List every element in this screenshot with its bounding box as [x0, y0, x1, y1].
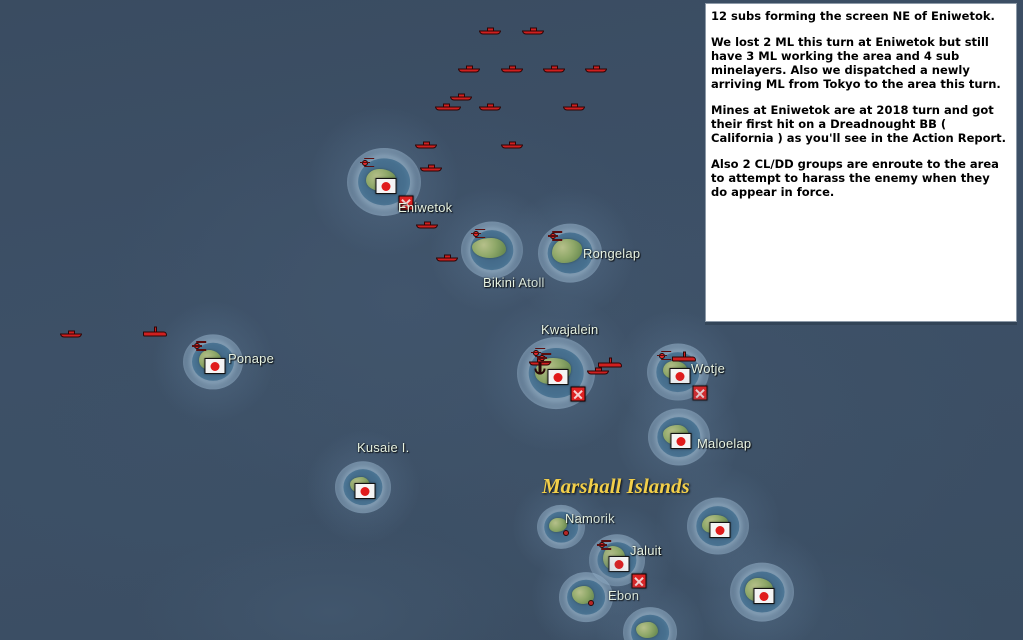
- submarine-sail: [551, 66, 558, 70]
- surface-ship-icon[interactable]: [598, 357, 622, 368]
- ship-mast: [609, 358, 612, 364]
- island-label-wotje: Wotje: [691, 361, 725, 376]
- island-label-jaluit: Jaluit: [630, 543, 662, 558]
- japanese-flag-icon: [716, 526, 725, 535]
- japanese-flag-icon: [554, 373, 563, 382]
- submarine-sail: [487, 28, 494, 32]
- surface-ship-icon[interactable]: [672, 351, 696, 362]
- submarine-icon[interactable]: [450, 92, 472, 101]
- base-marker-arno[interactable]: [754, 588, 775, 604]
- island-label-ebon: Ebon: [608, 588, 639, 603]
- submarine-sail: [466, 66, 473, 70]
- island-label-kusaiei: Kusaie I.: [357, 440, 409, 455]
- base-marker-kusaiei[interactable]: [355, 483, 376, 499]
- submarine-icon[interactable]: [563, 102, 585, 111]
- airfield-marker-ponape[interactable]: [192, 341, 202, 351]
- base-marker-wotje[interactable]: [670, 368, 691, 384]
- island-label-maloelap: Maloelap: [697, 436, 751, 451]
- submarine-sail: [68, 331, 75, 335]
- free-target-marker[interactable]: [537, 353, 547, 363]
- submarine-sail: [443, 104, 450, 108]
- submarine-icon[interactable]: [435, 102, 461, 111]
- base-marker-maloelap[interactable]: [671, 433, 692, 449]
- japanese-flag-icon: [677, 437, 686, 446]
- submarine-icon[interactable]: [416, 220, 438, 229]
- airfield-marker-bikiniatoll[interactable]: [471, 229, 481, 239]
- submarine-icon[interactable]: [60, 329, 82, 338]
- ship-mast: [154, 327, 157, 333]
- island-label-bikiniatoll: Bikini Atoll: [483, 275, 545, 290]
- submarine-sail: [530, 28, 537, 32]
- base-marker-mili[interactable]: [710, 522, 731, 538]
- anchor-icon[interactable]: [535, 362, 546, 375]
- base-marker-kwajalein[interactable]: [548, 369, 569, 385]
- submarine-icon[interactable]: [436, 253, 458, 262]
- surface-ship-icon[interactable]: [143, 326, 167, 337]
- minefield-marker-kwajalein[interactable]: [571, 387, 586, 402]
- turn-report-panel[interactable]: 12 subs forming the screen NE of Eniweto…: [705, 3, 1017, 322]
- japanese-flag-icon: [615, 560, 624, 569]
- report-paragraph: We lost 2 ML this turn at Eniwetok but s…: [711, 35, 1008, 91]
- region-label: Marshall Islands: [542, 474, 690, 499]
- airfield-marker-wotje[interactable]: [657, 351, 667, 361]
- submarine-icon[interactable]: [415, 140, 437, 149]
- island-label-eniwetok: Eniwetok: [398, 200, 452, 215]
- base-marker-ponape[interactable]: [205, 358, 226, 374]
- submarine-sail: [571, 104, 578, 108]
- japanese-flag-icon: [361, 487, 370, 496]
- submarine-sail: [444, 255, 451, 259]
- japanese-flag-icon: [760, 592, 769, 601]
- submarine-icon[interactable]: [501, 64, 523, 73]
- island-label-kwajalein: Kwajalein: [541, 322, 598, 337]
- submarine-sail: [509, 142, 516, 146]
- submarine-icon[interactable]: [479, 26, 501, 35]
- japanese-flag-icon: [676, 372, 685, 381]
- submarine-icon[interactable]: [458, 64, 480, 73]
- base-marker-eniwetok[interactable]: [376, 178, 397, 194]
- submarine-sail: [424, 222, 431, 226]
- submarine-icon[interactable]: [585, 64, 607, 73]
- submarine-icon[interactable]: [522, 26, 544, 35]
- submarine-icon[interactable]: [543, 64, 565, 73]
- japanese-flag-icon: [211, 362, 220, 371]
- airfield-marker-jaluit[interactable]: [597, 540, 607, 550]
- submarine-sail: [509, 66, 516, 70]
- submarine-sail: [423, 142, 430, 146]
- airfield-marker-eniwetok[interactable]: [360, 158, 370, 168]
- japanese-flag-icon: [382, 182, 391, 191]
- island-label-rongelap: Rongelap: [583, 246, 640, 261]
- map-screen: EniwetokBikini AtollRongelapPonapeKusaie…: [0, 0, 1023, 640]
- location-dot-namorik[interactable]: [563, 530, 569, 536]
- submarine-sail: [458, 94, 465, 98]
- report-panel-shadow: [705, 322, 1017, 325]
- location-dot-ebon[interactable]: [588, 600, 594, 606]
- report-paragraph: Mines at Eniwetok are at 2018 turn and g…: [711, 103, 1008, 145]
- ship-mast: [683, 352, 686, 358]
- submarine-sail: [593, 66, 600, 70]
- submarine-sail: [487, 104, 494, 108]
- submarine-sail: [595, 368, 602, 372]
- submarine-icon[interactable]: [479, 102, 501, 111]
- submarine-icon[interactable]: [501, 140, 523, 149]
- minefield-marker-wotje[interactable]: [693, 386, 708, 401]
- minefield-marker-jaluit[interactable]: [632, 574, 647, 589]
- report-paragraph: Also 2 CL/DD groups are enroute to the a…: [711, 157, 1008, 199]
- submarine-sail: [428, 165, 435, 169]
- base-marker-jaluit[interactable]: [609, 556, 630, 572]
- island-label-namorik: Namorik: [565, 511, 615, 526]
- island-label-ponape: Ponape: [228, 351, 274, 366]
- airfield-marker-rongelap[interactable]: [548, 231, 558, 241]
- submarine-icon[interactable]: [420, 163, 442, 172]
- report-paragraph: 12 subs forming the screen NE of Eniweto…: [711, 9, 1008, 23]
